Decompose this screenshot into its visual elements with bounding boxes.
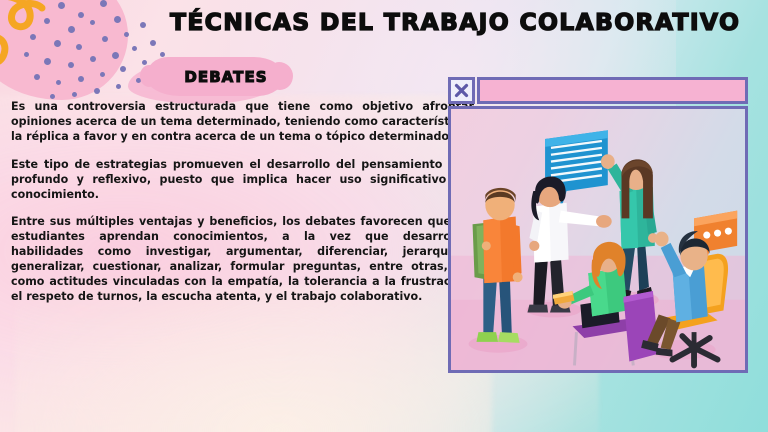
close-x-icon[interactable]: [448, 77, 475, 104]
illustration-window: [448, 77, 748, 373]
subtitle-banner: DEBATES: [146, 57, 284, 96]
group-discussion-illustration: [451, 109, 745, 370]
page-title: TÉCNICAS DEL TRABAJO COLABORATIVO: [170, 10, 710, 36]
paragraph-3: Entre sus múltiples ventajas y beneficio…: [11, 215, 474, 304]
slide-canvas: TÉCNICAS DEL TRABAJO COLABORATIVO DEBATE…: [0, 0, 768, 432]
window-content-area: [448, 106, 748, 373]
body-text-block: Es una controversia estructurada que tie…: [11, 100, 474, 305]
window-titlebar: [448, 77, 748, 104]
paragraph-2: Este tipo de estrategias promueven el de…: [11, 158, 474, 203]
paragraph-1: Es una controversia estructurada que tie…: [11, 100, 474, 145]
background-wash-cream: [15, 285, 491, 432]
subtitle-label: DEBATES: [146, 57, 284, 96]
window-title-strip: [477, 77, 748, 104]
